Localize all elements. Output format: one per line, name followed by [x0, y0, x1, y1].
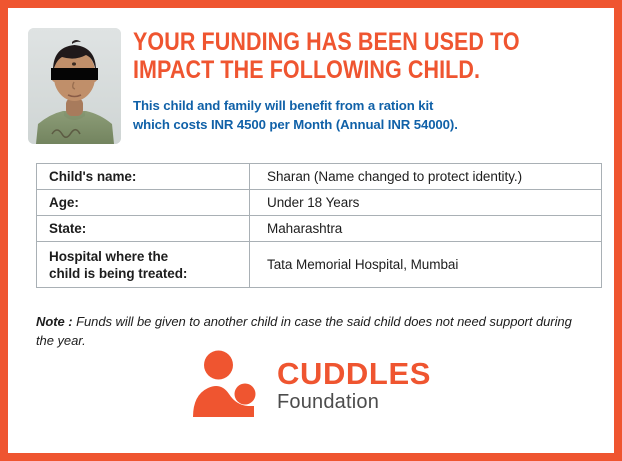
page-title: YOUR FUNDING HAS BEEN USED TO IMPACT THE…: [133, 28, 533, 84]
row-value-hospital: Tata Memorial Hospital, Mumbai: [250, 242, 602, 288]
child-details-table: Child's name: Sharan (Name changed to pr…: [36, 163, 602, 288]
row-value-child-name: Sharan (Name changed to protect identity…: [250, 164, 602, 190]
row-value-age: Under 18 Years: [250, 190, 602, 216]
header: YOUR FUNDING HAS BEEN USED TO IMPACT THE…: [28, 28, 598, 148]
brand-wordmark: CUDDLES Foundation: [277, 355, 431, 414]
cuddles-parent-child-icon: [191, 348, 263, 420]
child-photo: [28, 28, 121, 144]
funding-certificate-card: YOUR FUNDING HAS BEEN USED TO IMPACT THE…: [0, 0, 622, 461]
row-label-state: State:: [37, 216, 250, 242]
table-row: Hospital where the child is being treate…: [37, 242, 602, 288]
row-label-hospital: Hospital where the child is being treate…: [37, 242, 250, 288]
disclaimer-note: Note : Funds will be given to another ch…: [36, 312, 592, 350]
brand-name: CUDDLES: [277, 357, 431, 390]
note-prefix: Note :: [36, 314, 73, 329]
table-row: Child's name: Sharan (Name changed to pr…: [37, 164, 602, 190]
row-value-state: Maharashtra: [250, 216, 602, 242]
row-label-child-name: Child's name:: [37, 164, 250, 190]
card-inner: YOUR FUNDING HAS BEEN USED TO IMPACT THE…: [8, 8, 614, 453]
note-text: Funds will be given to another child in …: [36, 314, 572, 348]
table-row: Age: Under 18 Years: [37, 190, 602, 216]
table-body: Child's name: Sharan (Name changed to pr…: [37, 164, 602, 288]
brand-logo: CUDDLES Foundation: [8, 348, 614, 420]
subtitle: This child and family will benefit from …: [133, 84, 598, 134]
header-text: YOUR FUNDING HAS BEEN USED TO IMPACT THE…: [133, 28, 598, 134]
child-photo-image: [28, 28, 121, 144]
table-row: State: Maharashtra: [37, 216, 602, 242]
row-label-age: Age:: [37, 190, 250, 216]
brand-tagline: Foundation: [277, 390, 431, 414]
